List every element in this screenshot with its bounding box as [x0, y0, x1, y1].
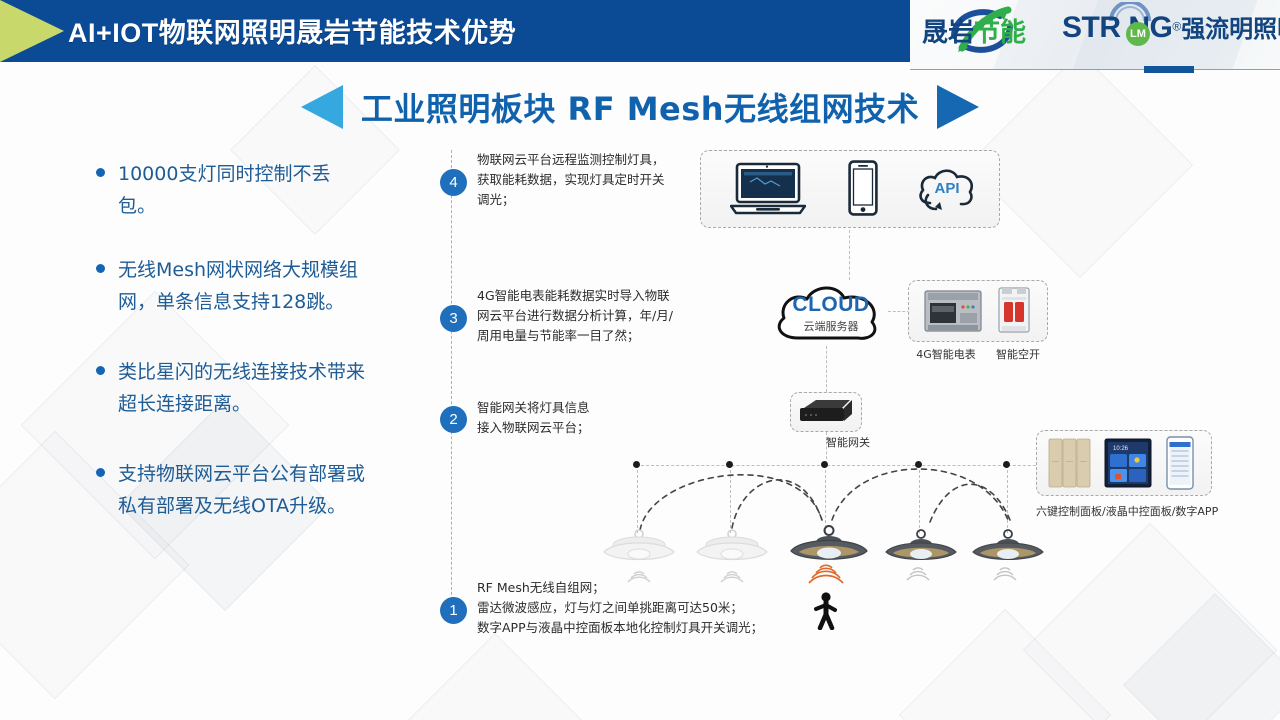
brand-logo-panel: 晟岩节能 STR NG®强流明照明 LM: [910, 0, 1280, 70]
mesh-node-dot: [1003, 461, 1010, 468]
brand-cn-part2: 节能: [974, 18, 1026, 48]
bullet-dot-icon: [96, 468, 105, 477]
smartphone-icon: [848, 160, 878, 216]
six-key-wall-panel-icon: [1048, 438, 1092, 488]
bullet-dot-icon: [96, 264, 105, 273]
mesh-node-dot: [633, 461, 640, 468]
mesh-node-dot: [915, 461, 922, 468]
list-item: 类比星闪的无线连接技术带来超长连接距离。: [96, 356, 366, 420]
page-title: AI+IOT物联网照明晟岩节能技术优势: [68, 11, 516, 50]
header-underline-accent: [1144, 66, 1194, 73]
step-number-badge: 4: [440, 169, 467, 196]
lamp-drop-line: [1007, 465, 1008, 533]
brand-strong-text: STR NG: [1062, 11, 1172, 44]
cloud-label-en: CLOUD: [787, 293, 875, 317]
registered-mark-icon: ®: [1172, 20, 1181, 34]
radar-wave-icon: [903, 564, 933, 582]
list-item: 10000支灯同时控制不丢包。: [96, 158, 366, 222]
api-cloud-icon: API: [916, 163, 978, 213]
step-description: 智能网关将灯具信息 接入物联网云平台；: [477, 398, 590, 438]
step-item-2: 2 智能网关将灯具信息 接入物联网云平台；: [440, 398, 590, 438]
mobile-app-icon: [1166, 436, 1194, 490]
radar-wave-icon: [717, 566, 747, 584]
step-number-badge: 1: [440, 597, 467, 624]
laptop-dashboard-icon: [730, 162, 806, 216]
mesh-node-dot: [726, 461, 733, 468]
bullet-text: 10000支灯同时控制不丢包。: [118, 158, 366, 222]
radar-wave-icon: [990, 564, 1020, 582]
lamp-drop-line: [825, 465, 826, 533]
step-number-badge: 2: [440, 406, 467, 433]
radar-wave-icon: [624, 566, 654, 584]
connector-cloud-to-gateway: [826, 346, 827, 392]
subtitle-text: 工业照明板块 RF Mesh无线组网技术: [361, 84, 919, 130]
smart-gateway-icon: [798, 398, 854, 426]
step-description: RF Mesh无线自组网； 雷达微波感应，灯与灯之间单挑距离可达50米； 数字A…: [477, 578, 763, 638]
lamp-drop-line: [919, 465, 920, 533]
bullet-text: 类比星闪的无线连接技术带来超长连接距离。: [118, 356, 366, 420]
mesh-node-dot: [821, 461, 828, 468]
panel-caption: 六键控制面板/液晶中控面板/数字APP: [1036, 503, 1212, 519]
bullet-text: 无线Mesh网状网络大规模组网，单条信息支持128跳。: [118, 254, 366, 318]
lcd-control-panel-icon: 10:26: [1104, 438, 1152, 488]
connector-cloud-to-meter: [888, 311, 910, 312]
triangle-left-icon: [301, 85, 343, 129]
brand-strong-lockup: STR NG®强流明照明: [1062, 9, 1280, 45]
bullet-text: 支持物联网云平台公有部署或私有部署及无线OTA升级。: [118, 458, 366, 522]
brand-chinese-name: 晟岩节能: [922, 12, 1026, 49]
section-subtitle: 工业照明板块 RF Mesh无线组网技术: [0, 84, 1280, 130]
radar-wave-active-icon: [808, 562, 844, 584]
slide-root: AI+IOT物联网照明晟岩节能技术优势 晟岩节能 STR NG®强流明照明 LM…: [0, 0, 1280, 720]
smart-breaker-icon: [996, 286, 1032, 334]
lm-badge-icon: LM: [1126, 22, 1150, 46]
triangle-right-icon: [937, 85, 979, 129]
walking-person-icon: [812, 592, 840, 630]
lamp-drop-line: [637, 465, 638, 533]
brand-strong-cn: 强流明照明: [1181, 15, 1280, 43]
step-item-3: 3 4G智能电表能耗数据实时导入物联 网云平台进行数据分析计算，年/月/ 周用电…: [440, 286, 673, 346]
step-description: 4G智能电表能耗数据实时导入物联 网云平台进行数据分析计算，年/月/ 周用电量与…: [477, 286, 673, 346]
smart-meter-icon: [924, 288, 982, 334]
api-label: API: [934, 180, 959, 197]
svg-text:10:26: 10:26: [1113, 446, 1129, 452]
steps-rail-divider: [451, 150, 452, 620]
step-item-1: 1 RF Mesh无线自组网； 雷达微波感应，灯与灯之间单挑距离可达50米； 数…: [440, 578, 763, 638]
connector-mesh-backbone: [636, 465, 1061, 466]
bullet-dot-icon: [96, 366, 105, 375]
bullet-dot-icon: [96, 168, 105, 177]
gateway-caption: 智能网关: [826, 434, 896, 450]
meter-caption-1: 4G智能电表: [908, 346, 984, 362]
lamp-drop-line: [730, 465, 731, 533]
list-item: 无线Mesh网状网络大规模组网，单条信息支持128跳。: [96, 254, 366, 318]
meter-caption-2: 智能空开: [986, 346, 1050, 362]
step-item-4: 4 物联网云平台远程监测控制灯具， 获取能耗数据，实现灯具定时开关 调光；: [440, 150, 665, 210]
list-item: 支持物联网云平台公有部署或私有部署及无线OTA升级。: [96, 458, 366, 522]
chevron-accent-icon: [0, 0, 64, 62]
step-description: 物联网云平台远程监测控制灯具， 获取能耗数据，实现灯具定时开关 调光；: [477, 150, 665, 210]
brand-cn-part1: 晟岩: [922, 18, 974, 48]
connector-cloud-to-devices: [849, 230, 850, 280]
feature-bullet-list: 10000支灯同时控制不丢包。 无线Mesh网状网络大规模组网，单条信息支持12…: [96, 158, 366, 554]
step-number-badge: 3: [440, 305, 467, 332]
cloud-label-cn: 云端服务器: [787, 318, 875, 334]
